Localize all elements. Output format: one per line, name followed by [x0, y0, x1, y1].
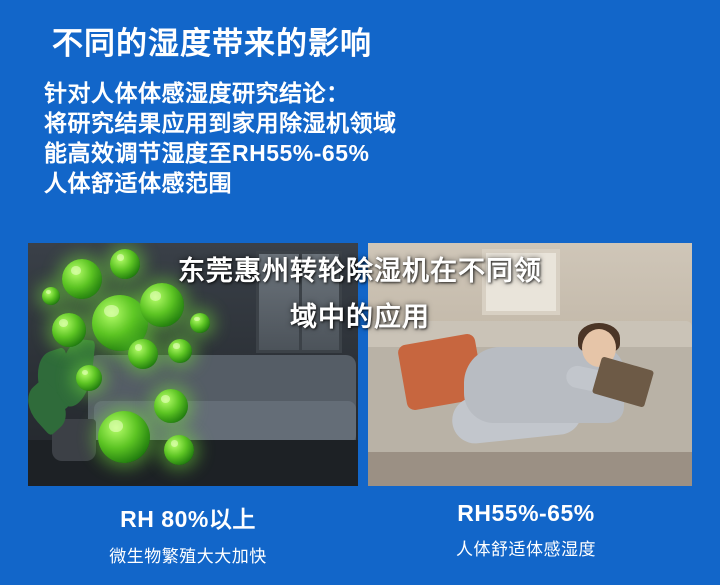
- poster-canvas: 不同的湿度带来的影响 针对人体体感湿度研究结论： 将研究结果应用到家用除湿机领域…: [0, 0, 720, 585]
- page-title: 不同的湿度带来的影响: [52, 18, 372, 63]
- subtitle-line-1: 针对人体体感湿度研究结论：: [44, 78, 684, 108]
- window-shape: [482, 249, 560, 315]
- microbe-icon: [76, 365, 102, 391]
- left-caption: RH 80%以上 微生物繁殖大大加快: [22, 500, 354, 567]
- left-caption-title: RH 80%以上: [22, 500, 354, 534]
- microbe-icon: [168, 339, 192, 363]
- left-photo: [28, 243, 358, 486]
- microbe-icon: [164, 435, 194, 465]
- subtitle-block: 针对人体体感湿度研究结论： 将研究结果应用到家用除湿机领域 能高效调节湿度至RH…: [44, 78, 684, 198]
- window-shape: [256, 251, 342, 353]
- right-caption: RH55%-65% 人体舒适体感湿度: [360, 500, 692, 560]
- subtitle-line-3: 能高效调节湿度至RH55%-65%: [44, 138, 684, 168]
- subtitle-line-4: 人体舒适体感范围: [44, 168, 684, 198]
- microbe-icon: [128, 339, 158, 369]
- right-caption-title: RH55%-65%: [360, 500, 692, 527]
- microbe-icon: [62, 259, 102, 299]
- microbe-icon: [52, 313, 86, 347]
- microbe-icon: [140, 283, 184, 327]
- microbe-icon: [190, 313, 210, 333]
- microbe-icon: [42, 287, 60, 305]
- floor-shape: [368, 452, 692, 486]
- right-photo: [368, 243, 692, 486]
- microbe-icon: [110, 249, 140, 279]
- right-caption-sub: 人体舒适体感湿度: [360, 535, 692, 560]
- left-caption-sub: 微生物繁殖大大加快: [22, 542, 354, 567]
- subtitle-line-2: 将研究结果应用到家用除湿机领域: [44, 108, 684, 138]
- photo-row: [28, 243, 692, 486]
- microbe-icon: [98, 411, 150, 463]
- microbe-icon: [154, 389, 188, 423]
